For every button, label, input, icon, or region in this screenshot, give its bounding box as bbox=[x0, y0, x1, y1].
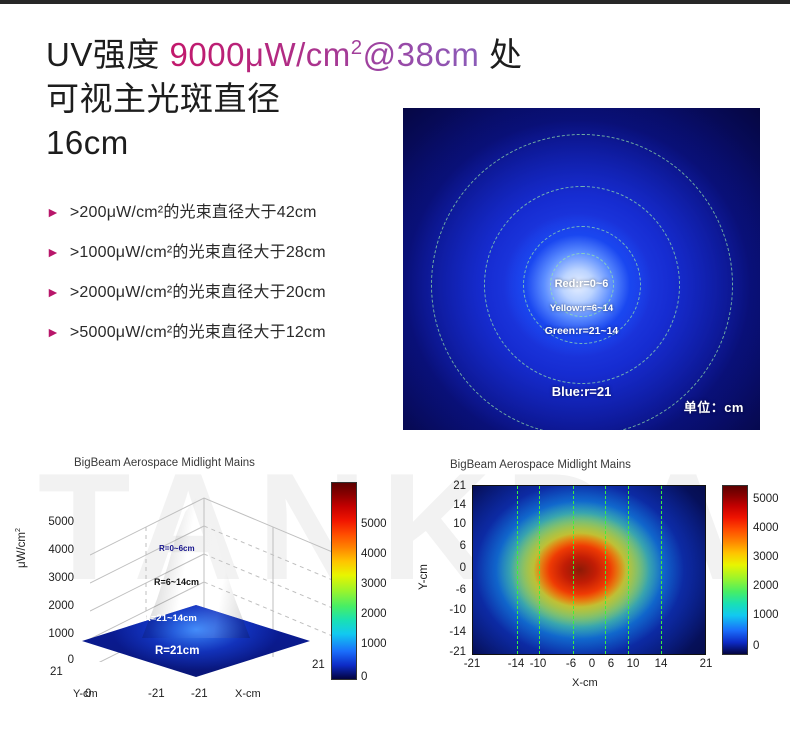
x-tick: -21 bbox=[457, 658, 487, 670]
list-item-label: >200μW/cm²的光束直径大于42cm bbox=[70, 203, 317, 223]
colorbar-tick: 0 bbox=[361, 671, 367, 683]
colorbar-tick: 2000 bbox=[361, 608, 387, 620]
x-tick: 14 bbox=[646, 658, 676, 670]
colorbar-tick: 3000 bbox=[361, 578, 387, 590]
headline-accent-intensity: 9000μW/cm2@38cm bbox=[170, 36, 480, 73]
z-tick: 3000 bbox=[32, 572, 74, 584]
colorbar-tick: 4000 bbox=[753, 522, 779, 534]
y-tick: 10 bbox=[430, 518, 466, 530]
z-tick: 2000 bbox=[32, 600, 74, 612]
x-axis-label: X-cm bbox=[235, 688, 261, 700]
colorbar bbox=[722, 485, 748, 655]
x-tick: 21 bbox=[691, 658, 721, 670]
beam-label-red: Red:r=0~6 bbox=[555, 278, 609, 290]
beam-label-blue: Blue:r=21 bbox=[552, 384, 612, 399]
list-item-label: >5000μW/cm²的光束直径大于12cm bbox=[70, 323, 326, 343]
beam-unit-label: 单位：cm bbox=[684, 397, 744, 416]
guide-line-x-14 bbox=[661, 486, 662, 654]
triangle-right-icon: ► bbox=[46, 282, 60, 302]
guide-line-x-neg14 bbox=[517, 486, 518, 654]
spec-bullet-list: ► >200μW/cm²的光束直径大于42cm ► >1000μW/cm²的光束… bbox=[46, 203, 396, 363]
x-tick: -21 bbox=[191, 688, 208, 700]
x-tick: -10 bbox=[523, 658, 553, 670]
list-item-label: >2000μW/cm²的光束直径大于20cm bbox=[70, 283, 326, 303]
z-tick: 1000 bbox=[32, 628, 74, 640]
colorbar-tick: 4000 bbox=[361, 548, 387, 560]
y-tick: 21 bbox=[430, 480, 466, 492]
chart-title: BigBeam Aerospace Midlight Mains bbox=[450, 459, 631, 471]
y-tick: 6 bbox=[430, 540, 466, 552]
y-tick: 14 bbox=[430, 499, 466, 511]
y-tick: -21 bbox=[430, 646, 466, 658]
y-axis-label: Y-cm bbox=[418, 564, 430, 590]
list-item: ► >1000μW/cm²的光束直径大于28cm bbox=[46, 243, 396, 263]
z-tick: 0 bbox=[32, 654, 74, 666]
y-tick: -10 bbox=[430, 604, 466, 616]
y-tick: -6 bbox=[430, 584, 466, 596]
list-item: ► >200μW/cm²的光束直径大于42cm bbox=[46, 203, 396, 223]
list-item-label: >1000μW/cm²的光束直径大于28cm bbox=[70, 243, 326, 263]
guide-line-x-neg10 bbox=[539, 486, 540, 654]
y-tick: 0 bbox=[430, 562, 466, 574]
top-divider-bar bbox=[0, 0, 790, 4]
x-tick: 10 bbox=[618, 658, 648, 670]
y-tick: 21 bbox=[50, 666, 63, 678]
triangle-right-icon: ► bbox=[46, 242, 60, 262]
y-tick: -21 bbox=[148, 688, 165, 700]
headline-suffix: 处 bbox=[479, 36, 522, 73]
z-tick: 4000 bbox=[32, 544, 74, 556]
y-axis-label: Y-cm bbox=[73, 688, 98, 700]
beam-label-green: Green:r=21~14 bbox=[545, 325, 619, 337]
list-item: ► >5000μW/cm²的光束直径大于12cm bbox=[46, 323, 396, 343]
x-axis-label: X-cm bbox=[572, 677, 598, 689]
colorbar-tick: 2000 bbox=[753, 580, 779, 592]
guide-line-x-neg6 bbox=[573, 486, 574, 654]
surface-plot-3d: BigBeam Aerospace Midlight Mains μW/cm2 … bbox=[20, 450, 390, 715]
colorbar-tick: 3000 bbox=[753, 551, 779, 563]
list-item: ► >2000μW/cm²的光束直径大于20cm bbox=[46, 283, 396, 303]
z-tick: 5000 bbox=[32, 516, 74, 528]
beam-label-yellow: Yellow:r=6~14 bbox=[550, 303, 613, 314]
y-tick: -14 bbox=[430, 626, 466, 638]
headline-prefix: UV强度 bbox=[46, 36, 170, 73]
heatmap-surface bbox=[472, 485, 706, 655]
colorbar-tick: 5000 bbox=[361, 518, 387, 530]
colorbar-tick: 1000 bbox=[361, 638, 387, 650]
colorbar-tick: 5000 bbox=[753, 493, 779, 505]
colorbar-tick: 0 bbox=[753, 640, 759, 652]
triangle-right-icon: ► bbox=[46, 202, 60, 222]
uv-beam-photo: Red:r=0~6 Yellow:r=6~14 Green:r=21~14 Bl… bbox=[403, 108, 760, 430]
guide-line-x-10 bbox=[628, 486, 629, 654]
guide-line-x-6 bbox=[605, 486, 606, 654]
colorbar-tick: 1000 bbox=[753, 609, 779, 621]
triangle-right-icon: ► bbox=[46, 322, 60, 342]
heatmap-plot-2d: BigBeam Aerospace Midlight Mains Y-cm 21… bbox=[410, 450, 785, 720]
colorbar bbox=[331, 482, 357, 680]
x-tick: 21 bbox=[312, 659, 325, 671]
